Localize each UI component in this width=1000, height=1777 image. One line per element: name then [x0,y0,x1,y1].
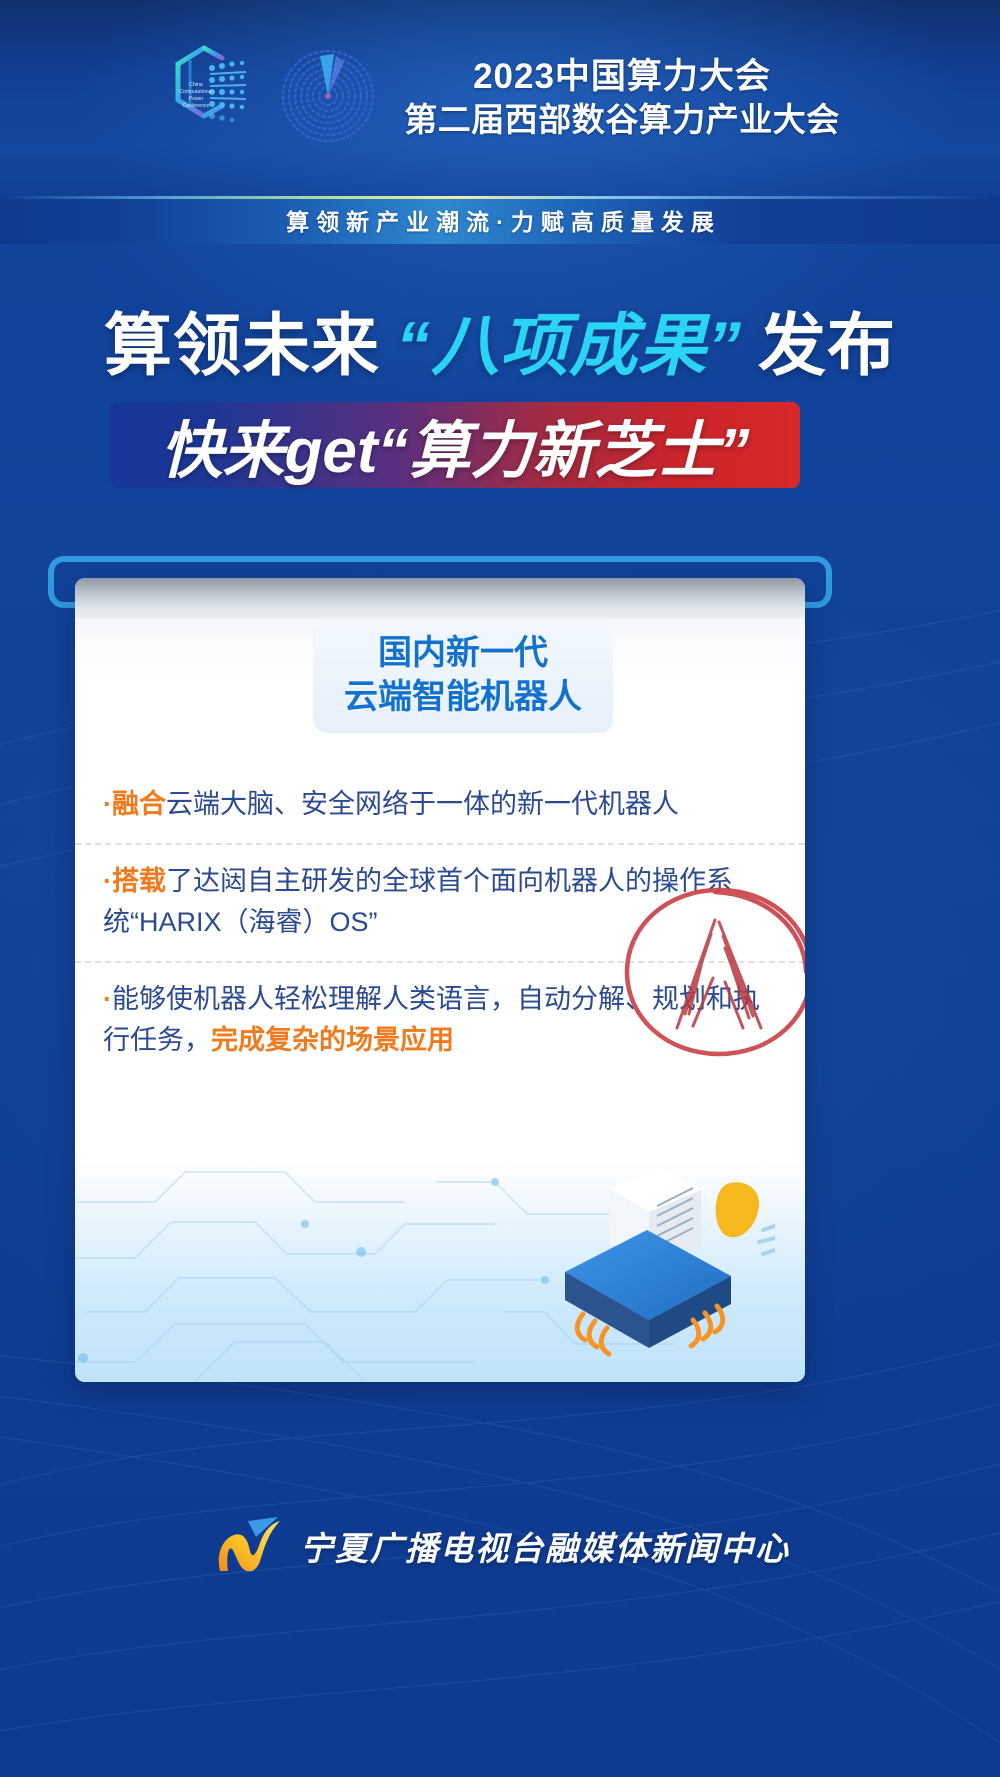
svg-text:China: China [189,82,203,88]
card-title: 国内新一代 云端智能机器人 [313,622,613,733]
header-title-line1: 2023中国算力大会 [473,55,771,99]
header-title-line2: 第二届西部数谷算力产业大会 [404,99,840,142]
bullet-highlight-tail-2: 完成复杂的场景应用 [211,1025,454,1055]
svg-text:Computational: Computational [180,89,213,95]
poster-footer: 宁夏广播电视台融媒体新闻中心 [0,1487,1000,1777]
bullet-text-0: 云端大脑、安全网络于一体的新一代机器人 [166,789,679,819]
result-card: 国内新一代 云端智能机器人 ·融合云端大脑、安全网络于一体的新一代机器人 ·搭载… [75,578,805,1382]
tagline-text: 算领新产业潮流·力赋高质量发展 [0,196,1000,244]
hexagon-conference-logo-icon: China Computational Power Conference [160,38,264,158]
tagline-band: 算领新产业潮流·力赋高质量发展 [0,196,1000,244]
footer-brand-text: 宁夏广播电视台融媒体新闻中心 [300,1522,790,1570]
bullet-marker-2: · [103,984,112,1014]
svg-text:Conference: Conference [183,103,210,109]
radial-fan-logo-icon [276,38,380,158]
bullet-highlight-0: 融合 [112,789,166,819]
bullet-marker-1: · [103,866,112,896]
hero-line1-part3: 发布 [758,290,896,389]
hero-line1-part1: 算领未来 [104,290,380,389]
hero-subtitle-text: 快来get“算力新芝士” [160,400,749,490]
isometric-chip-document-illustration [505,1164,775,1374]
list-item: ·融合云端大脑、安全网络于一体的新一代机器人 [75,768,805,843]
card-bullet-list: ·融合云端大脑、安全网络于一体的新一代机器人 ·搭载了达闼自主研发的全球首个面向… [75,768,805,1079]
card-title-line2: 云端智能机器人 [331,676,595,720]
poster-header: China Computational Power Conference [0,0,1000,196]
hero-subtitle-band: 快来get“算力新芝士” [110,402,800,488]
bullet-highlight-1: 搭载 [112,866,166,896]
bullet-text-1: 了达闼自主研发的全球首个面向机器人的操作系统“HARIX（海睿）OS” [103,866,733,937]
bullet-marker-0: · [103,789,112,819]
header-title-group: 2023中国算力大会 第二届西部数谷算力产业大会 [404,55,840,142]
svg-text:Power: Power [189,96,204,102]
ningxia-radio-tv-n-mark-icon [210,1515,286,1577]
list-item: ·搭载了达闼自主研发的全球首个面向机器人的操作系统“HARIX（海睿）OS” [75,843,805,961]
hero-line1-part2: “八项成果” [396,290,742,389]
hero-title-line1: 算领未来 “八项成果” 发布 [0,290,1000,389]
card-bottom-decor [75,1162,805,1382]
list-item: ·能够使机器人轻松理解人类语言，自动分解、规划和执行任务，完成复杂的场景应用 [75,961,805,1079]
hero-title-block: 算领未来 “八项成果” 发布 快来get“算力新芝士” [0,290,1000,389]
card-title-line1: 国内新一代 [331,632,595,676]
